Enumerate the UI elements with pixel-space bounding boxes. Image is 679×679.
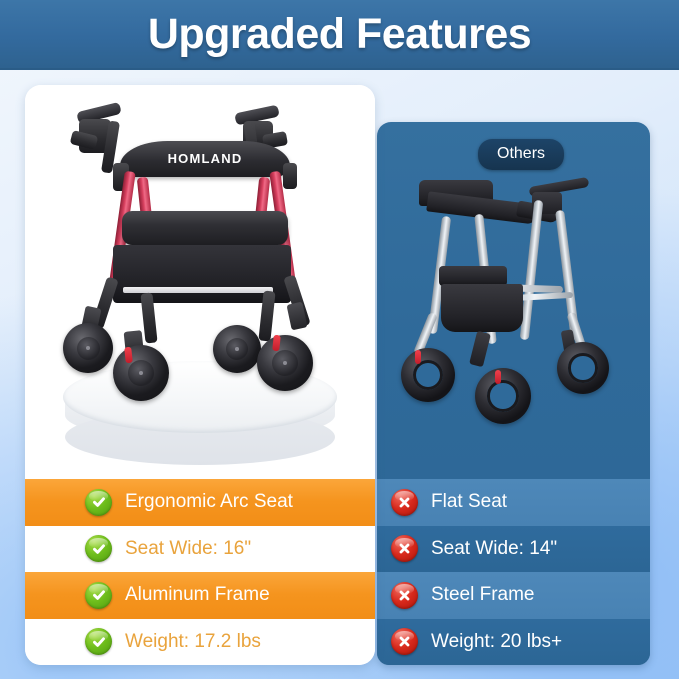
check-icon: [85, 582, 112, 609]
list-item: Seat Wide: 14": [377, 526, 650, 573]
list-item-label: Steel Frame: [431, 584, 534, 606]
list-item: Seat Wide: 16": [25, 526, 375, 573]
list-item-label: Ergonomic Arc Seat: [125, 491, 293, 513]
cross-icon: [391, 489, 418, 516]
rollator-illustration: HOMLAND: [25, 85, 375, 479]
product-card: HOMLAND: [25, 85, 375, 665]
check-icon: [85, 489, 112, 516]
infographic-page: Upgraded Features: [0, 0, 679, 679]
list-item: Aluminum Frame: [25, 572, 375, 619]
header-banner: Upgraded Features: [0, 0, 679, 70]
cross-icon: [391, 582, 418, 609]
others-product-image: [377, 162, 650, 452]
list-item-label: Seat Wide: 16": [125, 538, 251, 560]
check-icon: [85, 628, 112, 655]
others-panel: Flat Seat Seat Wide: 14" Steel Frame Wei…: [377, 122, 650, 665]
others-badge: Others: [478, 139, 564, 170]
list-item: Ergonomic Arc Seat: [25, 479, 375, 526]
list-item-label: Flat Seat: [431, 491, 507, 513]
cross-icon: [391, 535, 418, 562]
list-item: Flat Seat: [377, 479, 650, 526]
page-title: Upgraded Features: [148, 13, 531, 56]
others-feature-list: Flat Seat Seat Wide: 14" Steel Frame Wei…: [377, 479, 650, 665]
seat: [122, 211, 288, 245]
product-image: HOMLAND: [25, 85, 375, 479]
product-feature-list: Ergonomic Arc Seat Seat Wide: 16" Alumin…: [25, 479, 375, 665]
list-item-label: Weight: 17.2 lbs: [125, 631, 261, 653]
check-icon: [85, 535, 112, 562]
backrest: HOMLAND: [120, 141, 290, 177]
list-item-label: Aluminum Frame: [125, 584, 270, 606]
list-item: Weight: 17.2 lbs: [25, 619, 375, 666]
list-item-label: Weight: 20 lbs+: [431, 631, 562, 653]
brand-label: HOMLAND: [120, 151, 290, 166]
list-item-label: Seat Wide: 14": [431, 538, 557, 560]
list-item: Weight: 20 lbs+: [377, 619, 650, 666]
cross-icon: [391, 628, 418, 655]
list-item: Steel Frame: [377, 572, 650, 619]
